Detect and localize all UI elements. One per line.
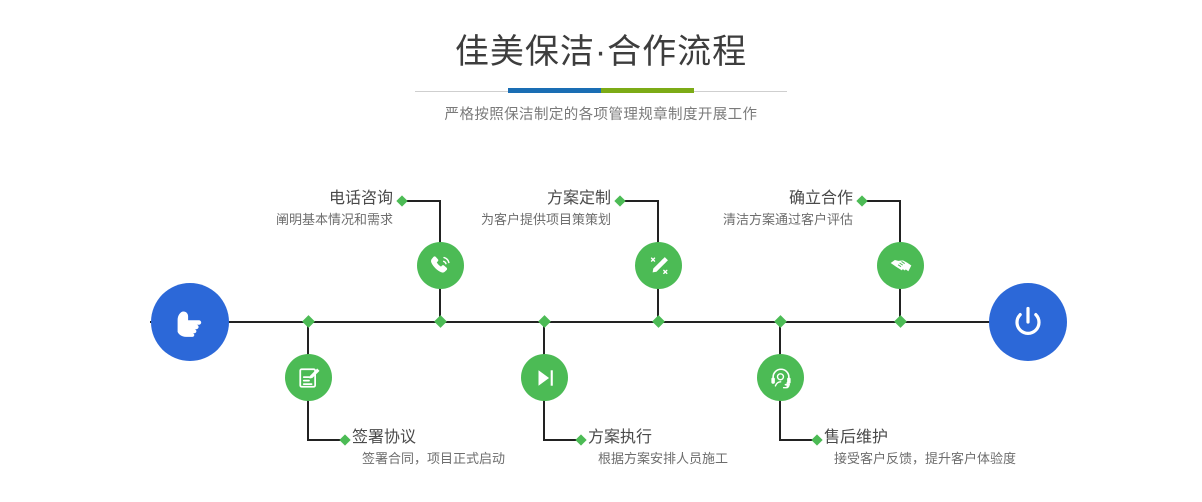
step-node-bottom-2 xyxy=(521,354,568,401)
step-title: 签署协议 xyxy=(352,427,612,449)
page-title: 佳美保洁·合作流程 xyxy=(0,30,1202,74)
top-label-marker-3 xyxy=(856,195,867,206)
customer-service-icon xyxy=(767,364,795,392)
pencil-edit-icon xyxy=(645,252,673,280)
axis-marker-4 xyxy=(652,315,665,328)
step-label-top-2: 方案定制 为客户提供项目策策划 xyxy=(370,188,611,230)
timeline-axis xyxy=(150,321,1050,323)
step-title: 电话咨询 xyxy=(150,188,393,210)
step-label-top-3: 确立合作 清洁方案通过客户评估 xyxy=(610,188,853,230)
header: 佳美保洁·合作流程 严格按照保洁制定的各项管理规章制度开展工作 xyxy=(0,30,1202,126)
step-node-bottom-1 xyxy=(285,354,332,401)
step-title: 方案执行 xyxy=(588,427,848,449)
step-node-bottom-3 xyxy=(757,354,804,401)
step-desc: 清洁方案通过客户评估 xyxy=(610,210,853,230)
step-desc: 为客户提供项目策策划 xyxy=(370,210,611,230)
document-sign-icon xyxy=(295,364,323,392)
top-connector-hline-3 xyxy=(864,200,901,202)
title-divider xyxy=(415,88,787,94)
step-desc: 根据方案安排人员施工 xyxy=(588,449,848,469)
axis-marker-5 xyxy=(774,315,787,328)
step-node-top-3 xyxy=(877,242,924,289)
step-label-bottom-3: 售后维护 接受客户反馈，提升客户体验度 xyxy=(824,427,1114,469)
step-desc: 签署合同，项目正式启动 xyxy=(352,449,612,469)
step-desc: 阐明基本情况和需求 xyxy=(150,210,393,230)
axis-marker-3 xyxy=(538,315,551,328)
axis-marker-6 xyxy=(894,315,907,328)
timeline-start-endpoint xyxy=(151,283,229,361)
step-title: 售后维护 xyxy=(824,427,1114,449)
axis-marker-1 xyxy=(302,315,315,328)
page-subtitle: 严格按照保洁制定的各项管理规章制度开展工作 xyxy=(0,104,1202,126)
phone-call-icon xyxy=(426,251,456,281)
bottom-label-marker-1 xyxy=(339,434,350,445)
axis-marker-2 xyxy=(434,315,447,328)
divider-segment-green xyxy=(601,88,694,93)
play-execute-icon xyxy=(532,365,558,391)
flow-diagram-page: 佳美保洁·合作流程 严格按照保洁制定的各项管理规章制度开展工作 xyxy=(0,0,1202,502)
step-label-top-1: 电话咨询 阐明基本情况和需求 xyxy=(150,188,393,230)
step-label-bottom-2: 方案执行 根据方案安排人员施工 xyxy=(588,427,848,469)
step-node-top-2 xyxy=(635,242,682,289)
power-icon xyxy=(1005,299,1051,345)
step-label-bottom-1: 签署协议 签署合同，项目正式启动 xyxy=(352,427,612,469)
pointing-hand-icon xyxy=(167,299,213,345)
handshake-icon xyxy=(887,252,915,280)
divider-segment-blue xyxy=(508,88,601,93)
step-title: 确立合作 xyxy=(610,188,853,210)
timeline-end-endpoint xyxy=(989,283,1067,361)
step-node-top-1 xyxy=(417,242,464,289)
step-desc: 接受客户反馈，提升客户体验度 xyxy=(824,449,1114,469)
